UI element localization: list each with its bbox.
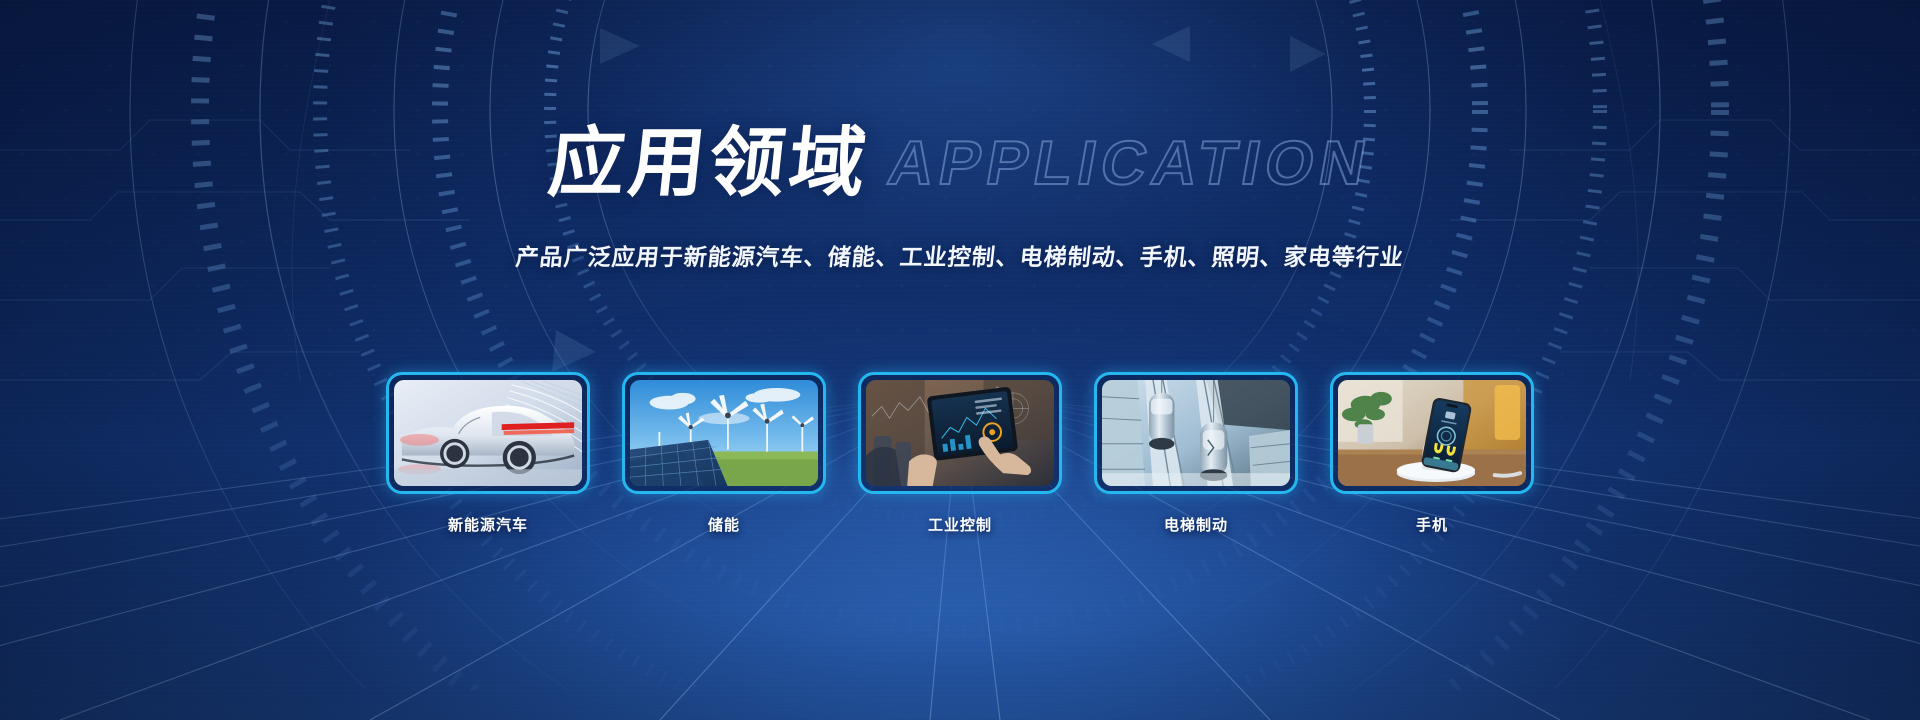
industrial-control-photo [866,380,1054,486]
banner-header: 应用领域 APPLICATION 产品广泛应用于新能源汽车、储能、工业控制、电梯… [0,0,1920,272]
title-row: 应用领域 APPLICATION [0,116,1920,212]
card-label: 手机 [1330,514,1534,535]
application-card[interactable]: 电梯制动 [1094,372,1298,535]
energy-storage-photo [630,380,818,486]
card-label: 新能源汽车 [386,514,590,535]
page-title-cn: 应用领域 [545,126,873,202]
card-frame[interactable] [1330,372,1534,494]
application-banner: 应用领域 APPLICATION 产品广泛应用于新能源汽车、储能、工业控制、电梯… [0,0,1920,720]
electric-vehicle-photo [394,380,582,486]
elevator-brake-photo [1102,380,1290,486]
card-label: 工业控制 [858,514,1062,535]
application-card[interactable]: 新能源汽车 [386,372,590,535]
card-frame[interactable] [386,372,590,494]
card-frame[interactable] [858,372,1062,494]
mobile-phone-photo [1338,380,1526,486]
card-frame[interactable] [1094,372,1298,494]
card-frame[interactable] [622,372,826,494]
page-title-en: APPLICATION [884,133,1377,195]
application-card[interactable]: 手机 [1330,372,1534,535]
application-card-list: 新能源汽车 [386,372,1534,535]
application-card[interactable]: 工业控制 [858,372,1062,535]
application-card[interactable]: 储能 [622,372,826,535]
banner-subtitle: 产品广泛应用于新能源汽车、储能、工业控制、电梯制动、手机、照明、家电等行业 [0,238,1920,272]
card-label: 储能 [622,514,826,535]
card-label: 电梯制动 [1094,514,1298,535]
